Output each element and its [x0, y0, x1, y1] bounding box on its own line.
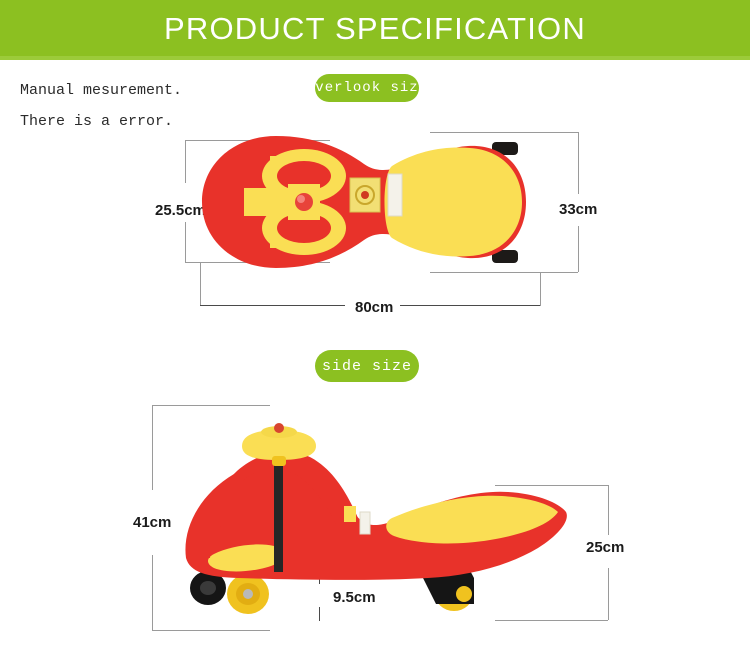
dim-label-80cm: 80cm — [352, 298, 396, 317]
dim-side-left-upper-line — [152, 405, 270, 406]
page-title: PRODUCT SPECIFICATION — [164, 13, 586, 44]
dim-25-upper-tick — [608, 485, 609, 535]
product-specification-page: PRODUCT SPECIFICATION Manual mesurement.… — [0, 0, 750, 652]
dim-80-left-line — [200, 305, 345, 306]
dim-25-lower-tick — [608, 568, 609, 620]
dim-label-41cm: 41cm — [130, 513, 174, 532]
header-banner: PRODUCT SPECIFICATION — [0, 0, 750, 56]
badge-side-size: side size — [315, 350, 419, 382]
dim-label-33cm: 33cm — [556, 200, 600, 219]
dim-side-left-lower-line — [152, 630, 270, 631]
dim-side-right-lower-line — [495, 620, 608, 621]
dim-25-5-upper-tick — [185, 140, 186, 183]
dim-80-right-tick — [540, 272, 541, 306]
error-note: There is a error. — [20, 113, 173, 130]
dim-80-right-line — [400, 305, 540, 306]
dim-25-5-lower-tick — [185, 222, 186, 262]
manual-measurement-note: Manual mesurement. — [20, 82, 182, 99]
header-underline — [0, 56, 750, 60]
toy-car-side-view-illustration — [178, 408, 578, 620]
toy-car-top-view-illustration — [196, 126, 536, 278]
dim-41-upper-tick — [152, 405, 153, 490]
badge-overlook-size: overlook size — [315, 74, 419, 102]
dim-33-lower-tick — [578, 226, 579, 272]
dim-33-upper-tick — [578, 132, 579, 194]
dim-label-25cm: 25cm — [583, 538, 627, 557]
dim-41-lower-tick — [152, 555, 153, 630]
